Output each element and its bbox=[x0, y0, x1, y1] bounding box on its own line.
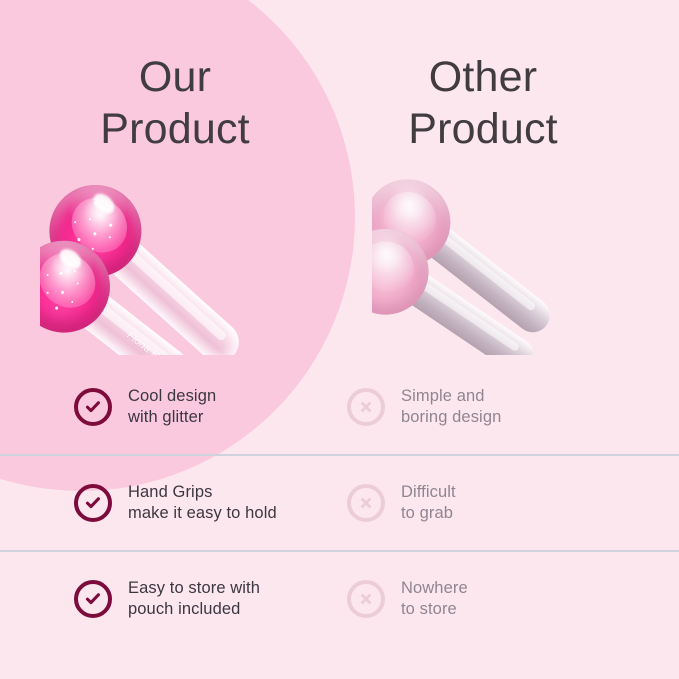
handle-brand-label: Fiona Emi bbox=[125, 330, 170, 355]
other-product-feature-cell: Nowhere to store bbox=[330, 578, 679, 621]
check-circle-icon bbox=[74, 484, 112, 522]
feature-label: Simple and boring design bbox=[401, 386, 501, 429]
other-product-feature-cell: Difficult to grab bbox=[330, 482, 679, 525]
other-product-feature-cell: Simple and boring design bbox=[330, 386, 679, 429]
our-product-feature-cell: Easy to store with pouch included bbox=[0, 578, 330, 621]
other-product-photo bbox=[372, 160, 612, 355]
x-circle-icon bbox=[347, 484, 385, 522]
x-circle-icon bbox=[347, 388, 385, 426]
our-product-photo: Fiona Emi bbox=[40, 160, 330, 355]
check-circle-icon bbox=[74, 388, 112, 426]
our-product-heading: Our Product bbox=[52, 52, 298, 155]
feature-label: Easy to store with pouch included bbox=[128, 578, 260, 621]
hero-section: Our Product Other Product bbox=[0, 0, 679, 360]
comparison-table: Cool design with glitter Simple and bori… bbox=[0, 360, 679, 679]
table-row: Cool design with glitter Simple and bori… bbox=[0, 360, 679, 454]
x-circle-icon bbox=[347, 580, 385, 618]
feature-label: Difficult to grab bbox=[401, 482, 456, 525]
product-comparison-infographic: Our Product Other Product bbox=[0, 0, 679, 679]
our-product-feature-cell: Cool design with glitter bbox=[0, 386, 330, 429]
feature-label: Hand Grips make it easy to hold bbox=[128, 482, 277, 525]
our-product-feature-cell: Hand Grips make it easy to hold bbox=[0, 482, 330, 525]
other-product-heading: Other Product bbox=[360, 52, 606, 155]
table-row: Easy to store with pouch included Nowher… bbox=[0, 550, 679, 646]
feature-label: Cool design with glitter bbox=[128, 386, 216, 429]
table-row: Hand Grips make it easy to hold Difficul… bbox=[0, 454, 679, 550]
feature-label: Nowhere to store bbox=[401, 578, 468, 621]
check-circle-icon bbox=[74, 580, 112, 618]
